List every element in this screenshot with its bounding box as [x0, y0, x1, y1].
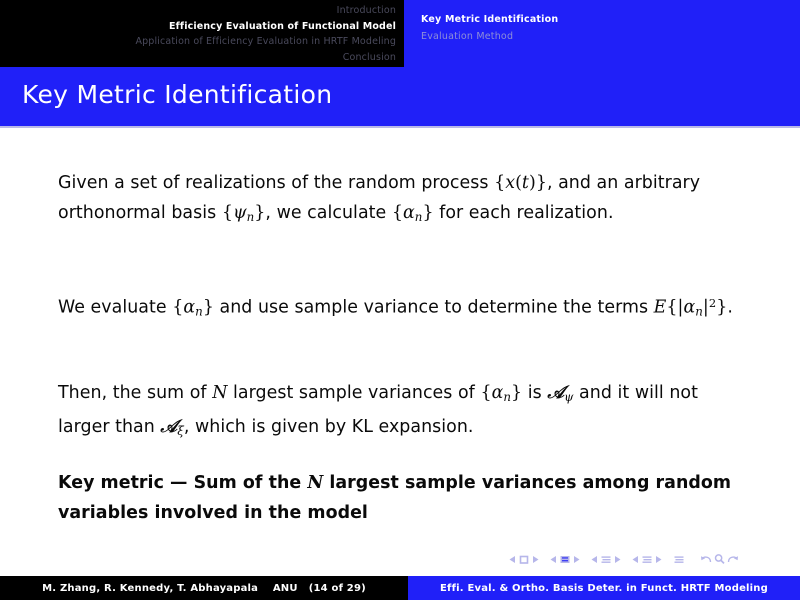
math-psi: ψ	[233, 203, 247, 223]
go-forward-icon[interactable]	[726, 553, 739, 565]
math-script-A-subscript-xi: ξ	[177, 424, 184, 438]
brace-close-1: }	[536, 173, 547, 193]
previous-section-icon[interactable]	[631, 554, 640, 565]
go-back-icon[interactable]	[700, 553, 713, 565]
footer-presentation-title: Effi. Eval. & Ortho. Basis Deter. in Fun…	[408, 576, 800, 600]
brace-open-4: {	[172, 297, 183, 317]
previous-subsection-icon[interactable]	[590, 554, 599, 565]
history-navigation-group[interactable]	[700, 553, 739, 565]
next-subsection-icon[interactable]	[613, 554, 622, 565]
brace-open-2: {	[222, 203, 233, 223]
slide-navigation-group[interactable]	[508, 554, 540, 565]
brace-open-5: {	[666, 297, 677, 317]
brace-close-6: }	[511, 383, 522, 403]
para1-text-d: for each realization.	[434, 203, 614, 223]
para1-text-c: , we calculate	[265, 203, 391, 223]
brace-close-3: }	[422, 203, 433, 223]
paragraph-sum-of-largest-variances: Then, the sum of N largest sample varian…	[58, 378, 748, 446]
brace-open-1: {	[494, 173, 505, 193]
math-N-1: N	[212, 383, 227, 403]
slide-content: Given a set of realizations of the rando…	[0, 128, 800, 572]
current-frame-icon[interactable]	[558, 554, 572, 565]
math-alpha-subscript-n-4: n	[503, 390, 511, 404]
math-N-2: N	[307, 473, 323, 493]
document-navigation-group[interactable]	[672, 554, 686, 565]
math-alpha-subscript-n-2: n	[195, 304, 203, 318]
para1-text-a: Given a set of realizations of the rando…	[58, 173, 494, 193]
current-slide-icon[interactable]	[517, 554, 531, 565]
para4-text-a: Key metric — Sum of the	[58, 473, 307, 493]
frame-navigation-group[interactable]	[549, 554, 581, 565]
slide-header: Introduction Efficiency Evaluation of Fu…	[0, 0, 800, 126]
math-x: x	[505, 173, 515, 193]
para3-text-c: is	[522, 383, 547, 403]
math-alpha-1: α	[403, 203, 415, 223]
para2-text-a: We evaluate	[58, 297, 172, 317]
para2-text-c: .	[727, 297, 733, 317]
current-section-icon[interactable]	[640, 554, 654, 565]
para3-text-b: largest sample variances of	[227, 383, 480, 403]
math-alpha-4: α	[492, 383, 504, 403]
math-expectation-E: E	[654, 297, 667, 317]
footer-authors-and-page: M. Zhang, R. Kennedy, T. Abhayapala ANU …	[0, 576, 408, 600]
nav-section-efficiency-evaluation-of-functional-model[interactable]: Efficiency Evaluation of Functional Mode…	[8, 19, 396, 35]
subsection-navigation-bar: Key Metric Identification Evaluation Met…	[421, 12, 791, 45]
math-script-A-psi: 𝒜	[547, 382, 564, 403]
section-navigation-bar: Introduction Efficiency Evaluation of Fu…	[0, 0, 404, 67]
math-alpha-2: α	[183, 297, 195, 317]
previous-slide-icon[interactable]	[508, 554, 517, 565]
slide-footer: M. Zhang, R. Kennedy, T. Abhayapala ANU …	[0, 576, 800, 600]
para3-text-e: , which is given by KL expansion.	[184, 417, 474, 437]
nav-subsection-key-metric-identification[interactable]: Key Metric Identification	[421, 12, 791, 29]
brace-close-4: }	[203, 297, 214, 317]
document-icon[interactable]	[672, 554, 686, 565]
paragraph-realizations: Given a set of realizations of the rando…	[58, 168, 748, 232]
next-frame-icon[interactable]	[572, 554, 581, 565]
para2-text-b: and use sample variance to determine the…	[214, 297, 654, 317]
math-t: t	[522, 173, 529, 193]
nav-section-introduction[interactable]: Introduction	[8, 3, 396, 19]
paragraph-sample-variance: We evaluate {αn} and use sample variance…	[58, 288, 748, 326]
subsection-navigation-group[interactable]	[590, 554, 622, 565]
nav-section-application-of-efficiency-evaluation-in-hrtf-modeling[interactable]: Application of Efficiency Evaluation in …	[8, 34, 396, 50]
math-alpha-subscript-n-3: n	[695, 304, 703, 318]
nav-subsection-evaluation-method[interactable]: Evaluation Method	[421, 29, 791, 46]
nav-section-conclusion[interactable]: Conclusion	[8, 50, 396, 66]
search-icon[interactable]	[713, 553, 726, 565]
math-alpha-3: α	[683, 297, 695, 317]
section-navigation-group[interactable]	[631, 554, 663, 565]
math-script-A-xi: 𝒜	[160, 416, 177, 437]
para3-text-a: Then, the sum of	[58, 383, 212, 403]
paren-open-1: (	[515, 173, 522, 193]
paragraph-key-metric-statement: Key metric — Sum of the N largest sample…	[58, 468, 748, 528]
paren-close-1: )	[529, 173, 536, 193]
page-title: Key Metric Identification	[22, 80, 332, 109]
brace-open-6: {	[480, 383, 491, 403]
brace-close-5: }	[716, 297, 727, 317]
beamer-navigation-symbols[interactable]	[508, 551, 739, 567]
current-subsection-icon[interactable]	[599, 554, 613, 565]
next-slide-icon[interactable]	[531, 554, 540, 565]
brace-open-3: {	[392, 203, 403, 223]
previous-frame-icon[interactable]	[549, 554, 558, 565]
next-section-icon[interactable]	[654, 554, 663, 565]
brace-close-2: }	[254, 203, 265, 223]
